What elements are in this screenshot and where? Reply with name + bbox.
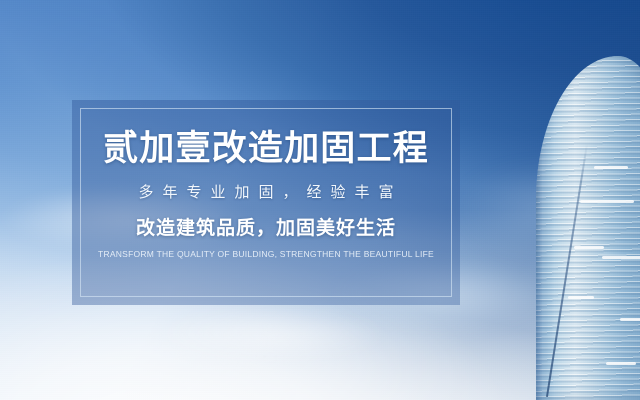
banner-image: 贰加壹改造加固工程 多年专业加固，经验丰富 改造建筑品质，加固美好生活 TRAN…: [0, 0, 640, 400]
banner-title: 贰加壹改造加固工程: [103, 131, 429, 166]
banner-slogan: 改造建筑品质，加固美好生活: [136, 219, 396, 238]
banner-subtitle: 多年专业加固，经验丰富: [129, 185, 402, 200]
banner-tagline-english: TRANSFORM THE QUALITY OF BUILDING, STREN…: [98, 250, 434, 259]
headline-panel: 贰加壹改造加固工程 多年专业加固，经验丰富 改造建筑品质，加固美好生活 TRAN…: [72, 100, 460, 305]
panel-content: 贰加壹改造加固工程 多年专业加固，经验丰富 改造建筑品质，加固美好生活 TRAN…: [72, 100, 460, 305]
